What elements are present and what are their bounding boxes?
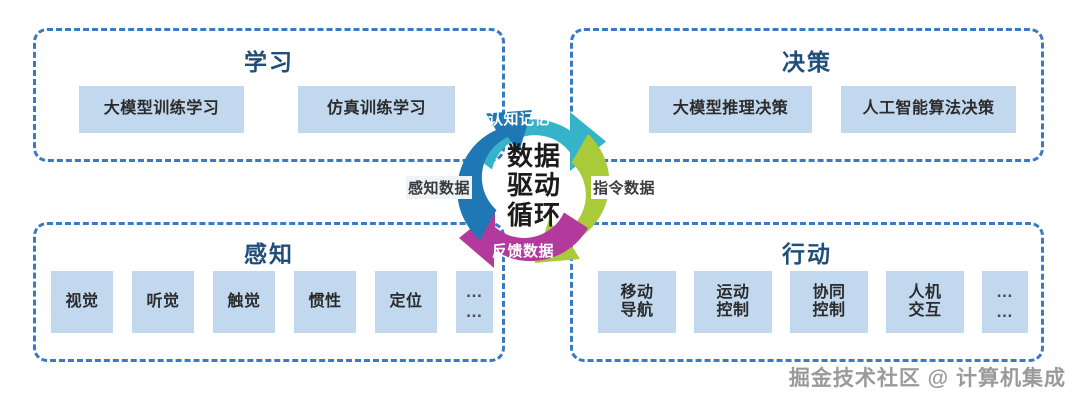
panel-learning: 学习 大模型训练学习 仿真训练学习 bbox=[33, 28, 505, 162]
watermark: 掘金技术社区 @ 计算机集成 bbox=[789, 362, 1066, 392]
arc-label-cognition: 认知记忆 bbox=[488, 108, 550, 129]
chip-decision-1-label: 人工智能算法决策 bbox=[862, 100, 994, 118]
chip-action-0-label: 移动 导航 bbox=[620, 284, 653, 321]
chip-perception-0[interactable]: 视觉 bbox=[51, 271, 113, 333]
chip-action-3[interactable]: 人机 交互 bbox=[886, 271, 964, 333]
chip-perception-1-label: 听觉 bbox=[146, 293, 179, 311]
arc-label-perception: 感知数据 bbox=[406, 176, 472, 199]
chip-decision-0[interactable]: 大模型推理决策 bbox=[649, 86, 812, 133]
panel-decision: 决策 大模型推理决策 人工智能算法决策 bbox=[570, 28, 1044, 162]
chip-perception-4-label: 定位 bbox=[389, 293, 422, 311]
chip-action-1-label: 运动 控制 bbox=[716, 284, 749, 321]
panel-perception: 感知 视觉 听觉 触觉 惯性 定位 …… bbox=[33, 222, 505, 362]
panel-learning-title: 学习 bbox=[36, 43, 502, 77]
data-driven-cycle: 认知记忆 指令数据 反馈数据 感知数据 数据 驱动 循环 bbox=[436, 88, 632, 284]
arc-label-feedback: 反馈数据 bbox=[492, 240, 554, 261]
chip-learning-1[interactable]: 仿真训练学习 bbox=[298, 86, 455, 133]
panel-action: 行动 移动 导航 运动 控制 协同 控制 人机 交互 bbox=[570, 222, 1044, 362]
chip-perception-5-label: …… bbox=[466, 282, 484, 321]
chip-perception-2-label: 触觉 bbox=[227, 293, 260, 311]
chip-action-4-label: … … bbox=[996, 282, 1014, 321]
chip-learning-0-label: 大模型训练学习 bbox=[104, 100, 220, 118]
chip-perception-1[interactable]: 听觉 bbox=[132, 271, 194, 333]
chip-perception-0-label: 视觉 bbox=[65, 293, 98, 311]
chip-action-3-label: 人机 交互 bbox=[908, 284, 941, 321]
chip-learning-1-label: 仿真训练学习 bbox=[327, 100, 426, 118]
chip-action-4[interactable]: … … bbox=[982, 271, 1028, 333]
chip-decision-0-label: 大模型推理决策 bbox=[673, 100, 789, 118]
chip-learning-0[interactable]: 大模型训练学习 bbox=[79, 86, 244, 133]
chip-action-2-label: 协同 控制 bbox=[812, 284, 845, 321]
panel-decision-title: 决策 bbox=[573, 43, 1041, 77]
chip-action-2[interactable]: 协同 控制 bbox=[790, 271, 868, 333]
chip-perception-3[interactable]: 惯性 bbox=[294, 271, 356, 333]
chip-action-1[interactable]: 运动 控制 bbox=[694, 271, 772, 333]
panel-action-title: 行动 bbox=[573, 235, 1041, 269]
panel-perception-title: 感知 bbox=[36, 235, 502, 269]
arc-label-instruction: 指令数据 bbox=[591, 176, 657, 199]
diagram-canvas: 学习 大模型训练学习 仿真训练学习 决策 大模型推理决策 人工智能算法决策 感知… bbox=[0, 0, 1080, 400]
chip-perception-3-label: 惯性 bbox=[308, 293, 341, 311]
chip-decision-1[interactable]: 人工智能算法决策 bbox=[841, 86, 1016, 133]
chip-perception-4[interactable]: 定位 bbox=[375, 271, 437, 333]
chip-perception-2[interactable]: 触觉 bbox=[213, 271, 275, 333]
